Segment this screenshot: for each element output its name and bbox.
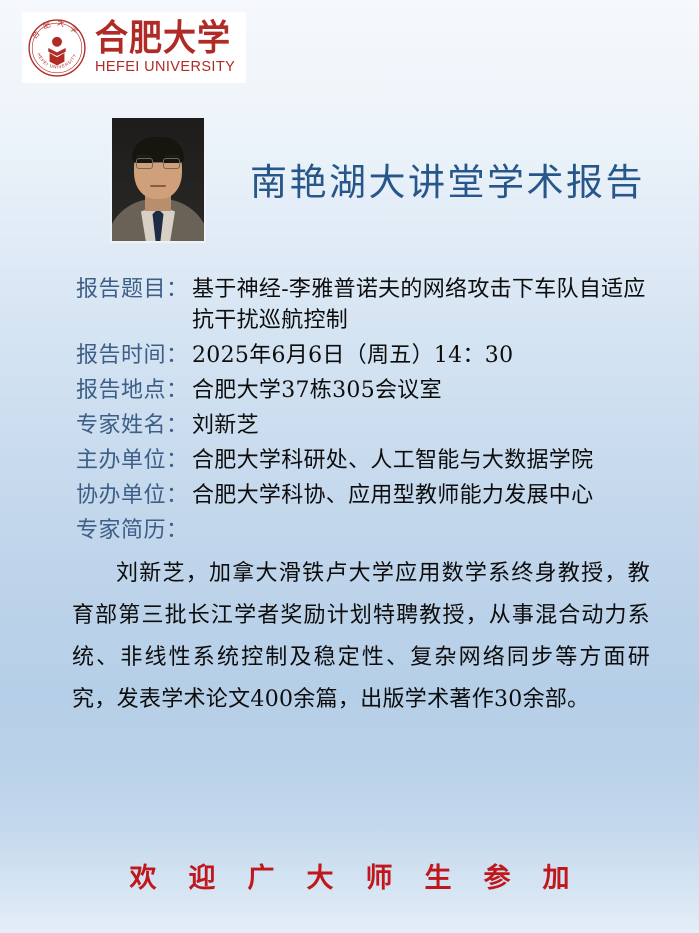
- poster-page: 合肥大学 HEFEI UNIVERSITY 合肥大学 HEFEI UNIVERS…: [0, 0, 699, 933]
- welcome-message: 欢迎广大师生参加: [0, 856, 699, 895]
- portrait-eyebrow-right: [165, 155, 180, 158]
- info-row-coorganizer: 协办单位： 合肥大学科协、应用型教师能力发展中心: [76, 480, 656, 511]
- page-title: 南艳湖大讲堂学术报告: [250, 152, 645, 206]
- speaker-photo-image: [112, 118, 204, 241]
- info-row-time: 报告时间： 2025年6月6日（周五）14：30: [76, 340, 656, 371]
- logo-chinese-name: 合肥大学: [95, 19, 235, 55]
- speaker-bio-paragraph: 刘新芝，加拿大滑铁卢大学应用数学系终身教授，教育部第三批长江学者奖励计划特聘教授…: [72, 553, 650, 721]
- info-label-speaker: 专家姓名：: [76, 410, 192, 441]
- info-value-topic: 基于神经-李雅普诺夫的网络攻击下车队自适应抗干扰巡航控制: [192, 274, 655, 336]
- info-row-topic: 报告题目： 基于神经-李雅普诺夫的网络攻击下车队自适应抗干扰巡航控制: [76, 274, 656, 336]
- info-label-topic: 报告题目：: [76, 274, 192, 305]
- info-value-speaker: 刘新芝: [192, 410, 656, 441]
- info-value-organizer: 合肥大学科研处、人工智能与大数据学院: [192, 445, 656, 476]
- logo-english-name: HEFEI UNIVERSITY: [95, 60, 235, 75]
- info-row-location: 报告地点： 合肥大学37栋305会议室: [76, 375, 656, 406]
- info-value-location: 合肥大学37栋305会议室: [192, 375, 656, 406]
- glasses-bridge: [153, 162, 163, 163]
- info-row-bio-heading: 专家简历：: [76, 515, 656, 546]
- info-label-coorganizer: 协办单位：: [76, 480, 192, 511]
- info-value-coorganizer: 合肥大学科协、应用型教师能力发展中心: [192, 480, 656, 511]
- portrait-eyebrow-left: [136, 155, 151, 158]
- info-label-location: 报告地点：: [76, 375, 192, 406]
- glasses-icon: [136, 158, 180, 169]
- info-label-bio: 专家简历：: [76, 515, 192, 546]
- glasses-lens-left: [136, 158, 153, 169]
- lecture-info-list: 报告题目： 基于神经-李雅普诺夫的网络攻击下车队自适应抗干扰巡航控制 报告时间：…: [76, 274, 656, 546]
- university-seal-icon: 合肥大学 HEFEI UNIVERSITY: [26, 17, 88, 79]
- info-label-time: 报告时间：: [76, 340, 192, 371]
- speaker-photo: [110, 116, 206, 243]
- info-row-speaker: 专家姓名： 刘新芝: [76, 410, 656, 441]
- info-row-organizer: 主办单位： 合肥大学科研处、人工智能与大数据学院: [76, 445, 656, 476]
- info-value-time: 2025年6月6日（周五）14：30: [192, 340, 656, 371]
- university-logo: 合肥大学 HEFEI UNIVERSITY 合肥大学 HEFEI UNIVERS…: [22, 12, 246, 83]
- logo-wordmark: 合肥大学 HEFEI UNIVERSITY: [95, 21, 235, 75]
- glasses-lens-right: [163, 158, 180, 169]
- info-label-organizer: 主办单位：: [76, 445, 192, 476]
